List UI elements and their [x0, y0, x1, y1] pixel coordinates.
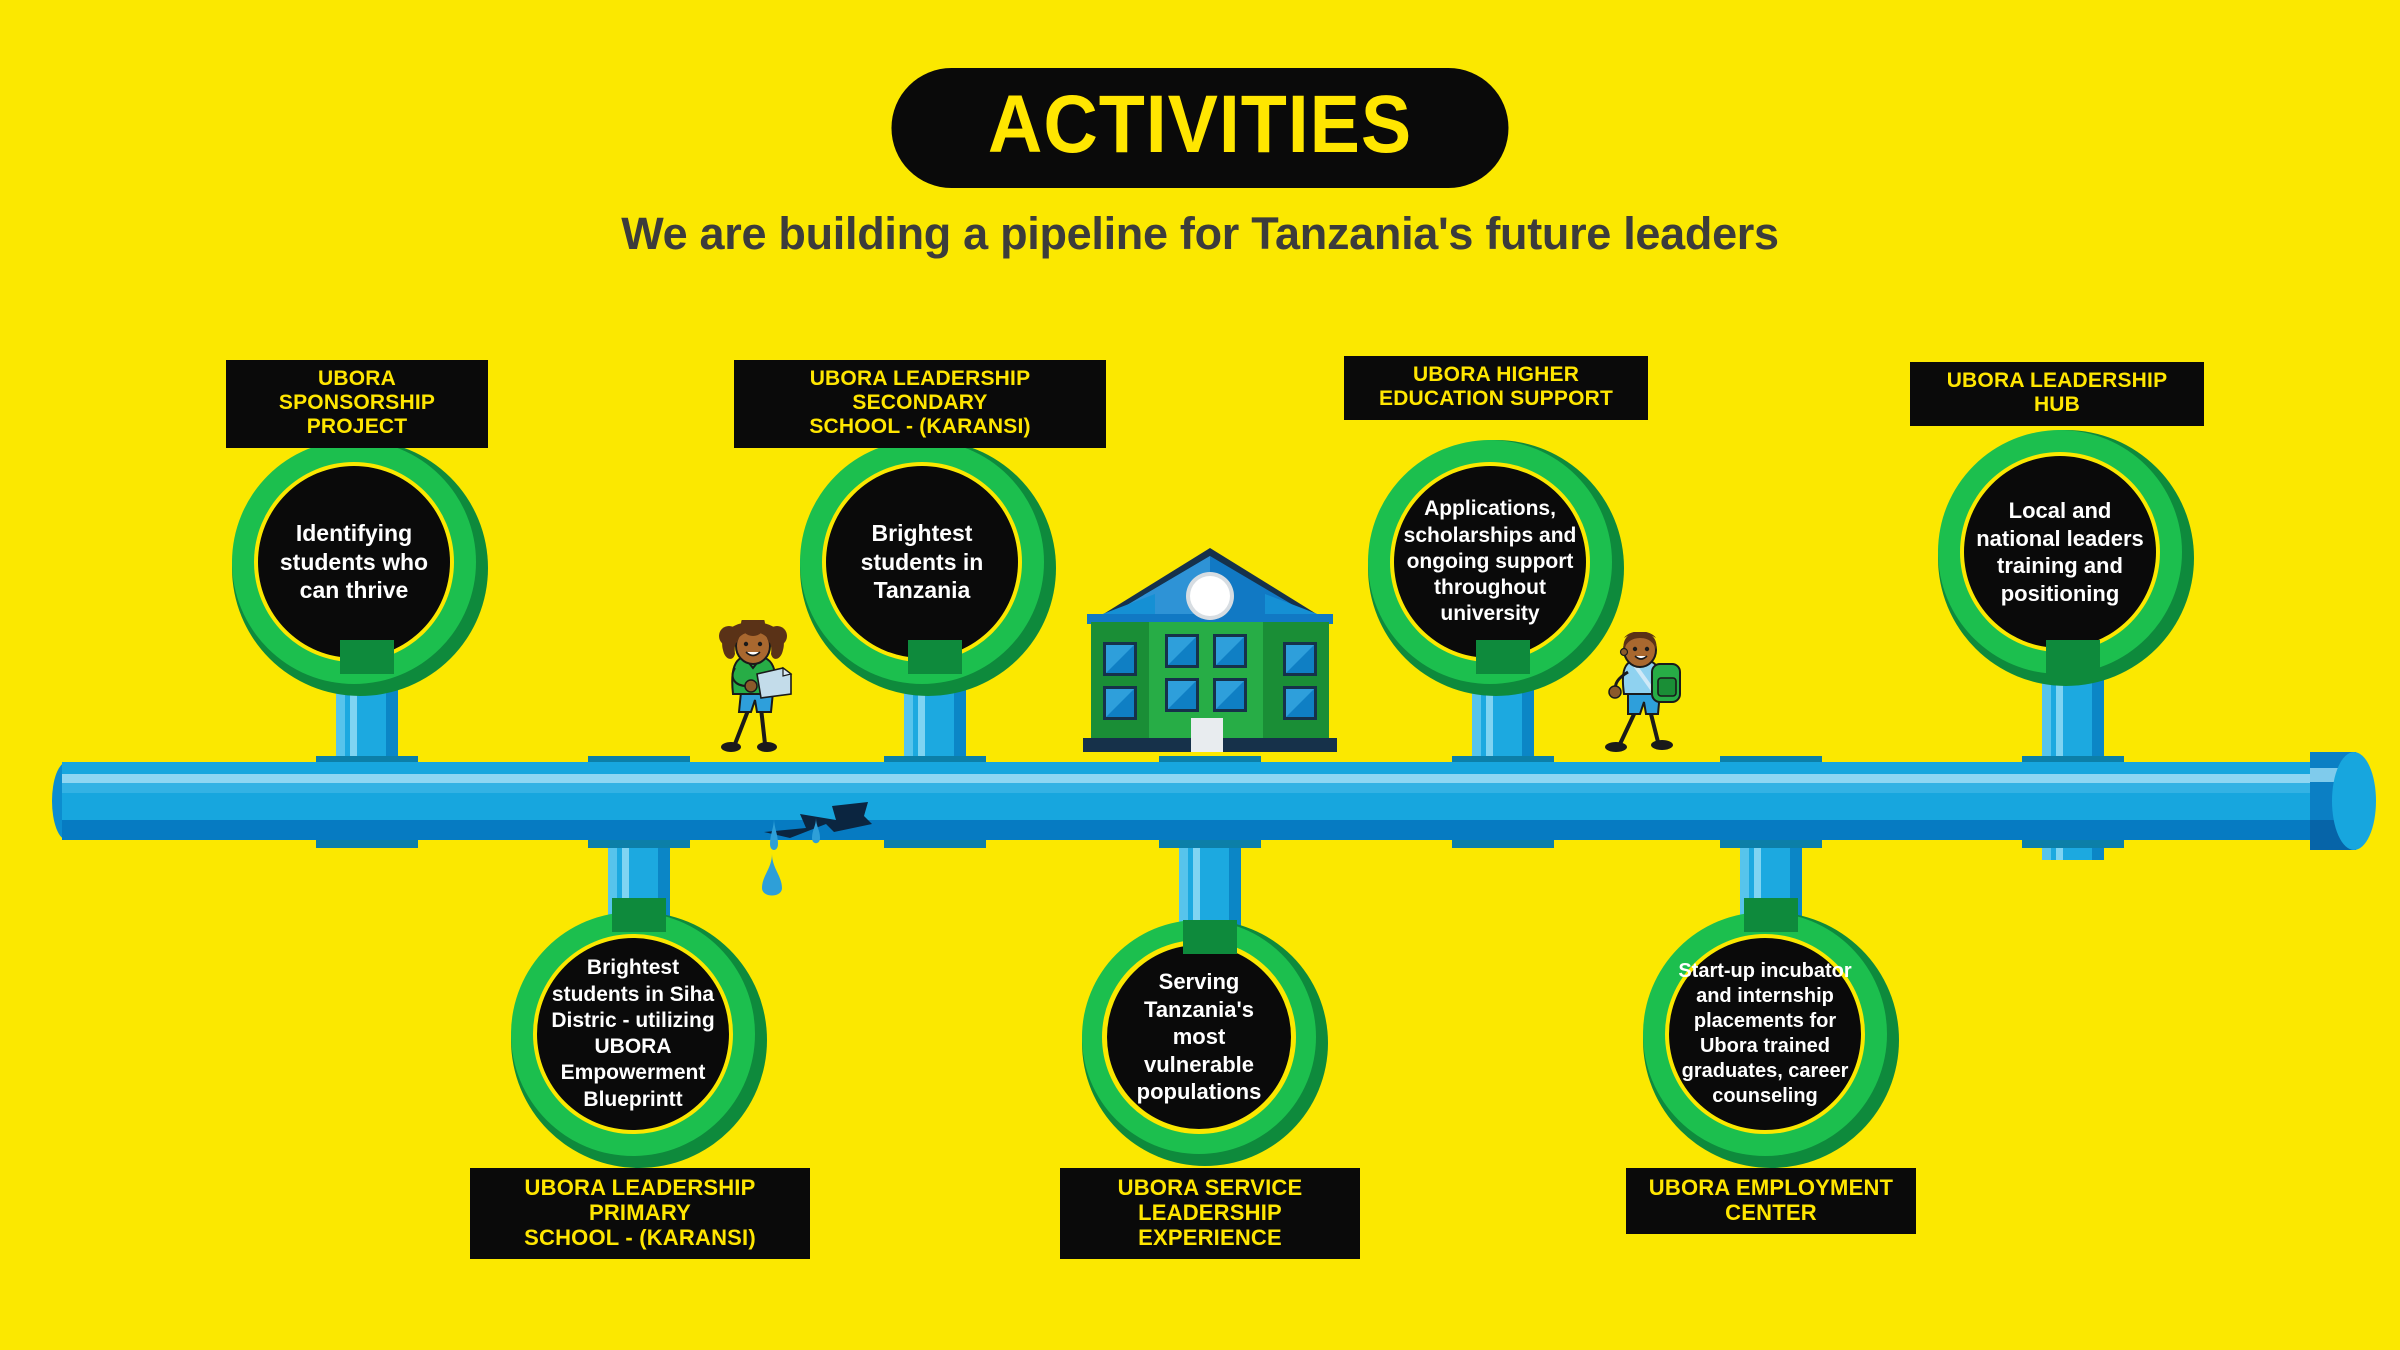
label-ubora-leadership-primary-school[interactable]: UBORA LEADERSHIP PRIMARY SCHOOL - (KARAN…	[470, 1168, 810, 1259]
pipe-right-end-cap	[2310, 752, 2356, 850]
node-body-text: Brightest students in Siha Distric - uti…	[537, 955, 729, 1113]
label-line-2: EDUCATION SUPPORT	[1358, 387, 1634, 411]
pipe-shadow-stripe	[62, 820, 2332, 840]
school-building-icon	[1075, 538, 1345, 768]
node-body-text: Serving Tanzania's most vulnerable popul…	[1107, 968, 1291, 1106]
label-line-1: UBORA SERVICE	[1074, 1175, 1346, 1200]
mount-ubora-employment-center	[1744, 898, 1798, 932]
label-line-2: SCHOOL - (KARANSI)	[748, 415, 1092, 439]
mount-ubora-leadership-primary-school	[612, 898, 666, 932]
label-ubora-employment-center[interactable]: UBORA EMPLOYMENT CENTER	[1626, 1168, 1916, 1234]
mount-ubora-higher-education-support	[1476, 640, 1530, 674]
node-core-ubora-sponsorship-project: Identifying students who can thrive	[258, 466, 450, 658]
mount-ubora-service-leadership-experience	[1183, 920, 1237, 954]
label-line-2: SCHOOL - (KARANSI)	[484, 1225, 796, 1250]
infographic-canvas: ACTIVITIES We are building a pipeline fo…	[0, 0, 2400, 1350]
label-line-1: UBORA HIGHER	[1358, 363, 1634, 387]
mount-ubora-sponsorship-project	[340, 640, 394, 674]
node-core-ubora-leadership-secondary-school: Brightest students in Tanzania	[826, 466, 1018, 658]
node-core-ubora-leadership-primary-school: Brightest students in Siha Distric - uti…	[537, 938, 729, 1130]
node-circle-ubora-leadership-primary-school[interactable]: Brightest students in Siha Distric - uti…	[511, 912, 767, 1168]
node-body-text: Brightest students in Tanzania	[826, 519, 1018, 605]
label-line-2: LEADERSHIP EXPERIENCE	[1074, 1200, 1346, 1250]
mount-ubora-leadership-secondary-school	[908, 640, 962, 674]
node-circle-ubora-employment-center[interactable]: Start-up incubator and internship placem…	[1643, 912, 1899, 1168]
label-line-1: UBORA LEADERSHIP PRIMARY	[484, 1175, 796, 1225]
pipe-highlight-stripe	[62, 774, 2332, 783]
label-ubora-leadership-hub[interactable]: UBORA LEADERSHIP HUB	[1910, 362, 2204, 426]
main-pipe	[62, 762, 2332, 840]
page-subtitle: We are building a pipeline for Tanzania'…	[0, 208, 2400, 260]
label-ubora-higher-education-support[interactable]: UBORA HIGHER EDUCATION SUPPORT	[1344, 356, 1648, 420]
node-core-ubora-service-leadership-experience: Serving Tanzania's most vulnerable popul…	[1107, 945, 1291, 1129]
girl-reading-book-icon	[705, 620, 815, 775]
label-line-1: UBORA LEADERSHIP SECONDARY	[748, 367, 1092, 415]
node-body-text: Start-up incubator and internship placem…	[1669, 959, 1861, 1109]
node-core-ubora-leadership-hub: Local and national leaders training and …	[1964, 456, 2156, 648]
label-ubora-service-leadership-experience[interactable]: UBORA SERVICE LEADERSHIP EXPERIENCE	[1060, 1168, 1360, 1259]
node-body-text: Applications, scholarships and ongoing s…	[1394, 496, 1586, 627]
pipe-water-droplet-icon	[752, 850, 812, 910]
page-title: ACTIVITIES	[988, 84, 1412, 166]
pipe-highlight-stripe-2	[62, 783, 2332, 793]
page-title-pill: ACTIVITIES	[891, 68, 1508, 188]
label-ubora-sponsorship-project[interactable]: UBORA SPONSORSHIP PROJECT	[226, 360, 488, 448]
label-line-1: UBORA EMPLOYMENT	[1640, 1175, 1902, 1200]
mount-ubora-leadership-hub	[2046, 640, 2100, 674]
label-line-1: UBORA LEADERSHIP	[1924, 369, 2190, 393]
node-body-text: Local and national leaders training and …	[1964, 497, 2156, 607]
node-circle-ubora-service-leadership-experience[interactable]: Serving Tanzania's most vulnerable popul…	[1082, 920, 1328, 1166]
label-ubora-leadership-secondary-school[interactable]: UBORA LEADERSHIP SECONDARY SCHOOL - (KAR…	[734, 360, 1106, 448]
pipe-end-face	[2332, 752, 2376, 850]
node-core-ubora-employment-center: Start-up incubator and internship placem…	[1669, 938, 1861, 1130]
label-line-2: PROJECT	[240, 415, 474, 439]
node-body-text: Identifying students who can thrive	[258, 519, 450, 605]
label-line-1: UBORA SPONSORSHIP	[240, 367, 474, 415]
label-line-2: HUB	[1924, 393, 2190, 417]
node-core-ubora-higher-education-support: Applications, scholarships and ongoing s…	[1394, 466, 1586, 658]
label-line-2: CENTER	[1640, 1200, 1902, 1225]
boy-with-backpack-icon	[1600, 632, 1710, 772]
